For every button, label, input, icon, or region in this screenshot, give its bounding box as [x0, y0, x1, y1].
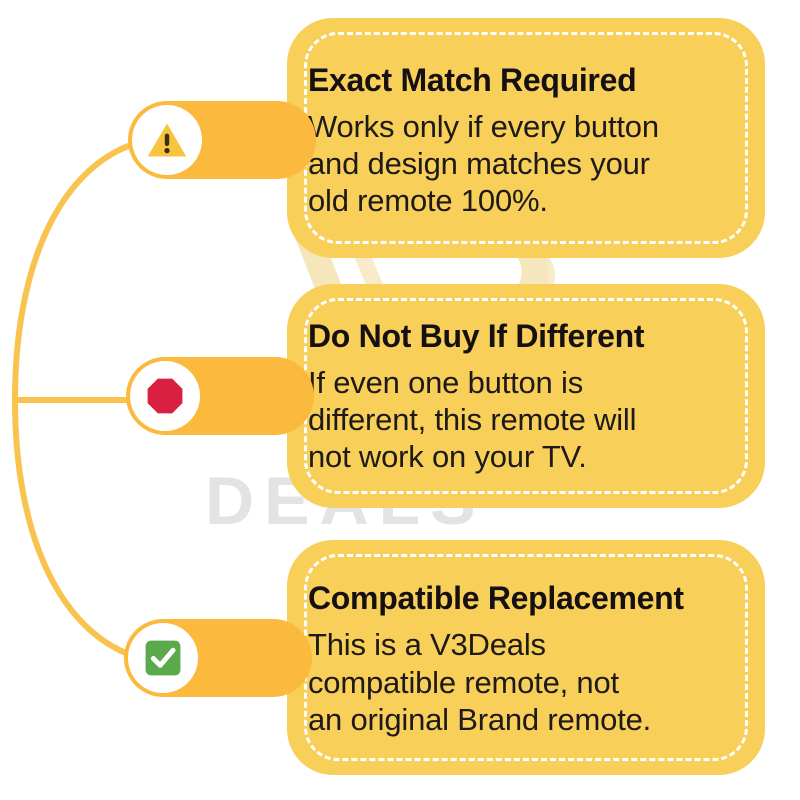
card-do-not-buy-if-different[interactable]: Do Not Buy If Different If even one butt… — [287, 284, 765, 508]
infographic-root: DEALS Exact Match Required Works only if… — [0, 0, 800, 800]
card-title: Do Not Buy If Different — [308, 319, 753, 354]
badge-circle — [130, 361, 200, 431]
card-title: Compatible Replacement — [308, 581, 753, 616]
card-title: Exact Match Required — [308, 63, 753, 98]
card-content: Do Not Buy If Different If even one butt… — [308, 284, 753, 508]
badge-circle — [132, 105, 202, 175]
card-description-line: an original Brand remote. — [308, 701, 753, 738]
card-exact-match-required[interactable]: Exact Match Required Works only if every… — [287, 18, 765, 258]
stop-octagon-icon — [143, 374, 187, 418]
badge-circle — [128, 623, 198, 693]
card-description-line: This is a V3Deals — [308, 626, 753, 663]
card-description-line: Works only if every button — [308, 108, 753, 145]
card-description: Works only if every button and design ma… — [308, 108, 753, 220]
card-content: Exact Match Required Works only if every… — [308, 18, 753, 258]
card-description-line: and design matches your — [308, 145, 753, 182]
card-description-line: different, this remote will — [308, 401, 753, 438]
card-row-exact-match-required: Exact Match Required Works only if every… — [0, 18, 800, 258]
card-row-compatible-replacement: Compatible Replacement This is a V3Deals… — [0, 540, 800, 775]
badge-exact-match-required[interactable] — [128, 101, 316, 179]
green-check-box-icon — [141, 636, 185, 680]
card-description-line: compatible remote, not — [308, 664, 753, 701]
card-compatible-replacement[interactable]: Compatible Replacement This is a V3Deals… — [287, 540, 765, 775]
badge-do-not-buy-if-different[interactable] — [126, 357, 314, 435]
badge-compatible-replacement[interactable] — [124, 619, 312, 697]
card-description-line: not work on your TV. — [308, 438, 753, 475]
warning-triangle-icon — [145, 118, 189, 162]
card-description: If even one button is different, this re… — [308, 364, 753, 476]
card-description: This is a V3Deals compatible remote, not… — [308, 626, 753, 738]
card-description-line: If even one button is — [308, 364, 753, 401]
card-description-line: old remote 100%. — [308, 182, 753, 219]
card-content: Compatible Replacement This is a V3Deals… — [308, 540, 753, 775]
card-row-do-not-buy-if-different: Do Not Buy If Different If even one butt… — [0, 284, 800, 508]
